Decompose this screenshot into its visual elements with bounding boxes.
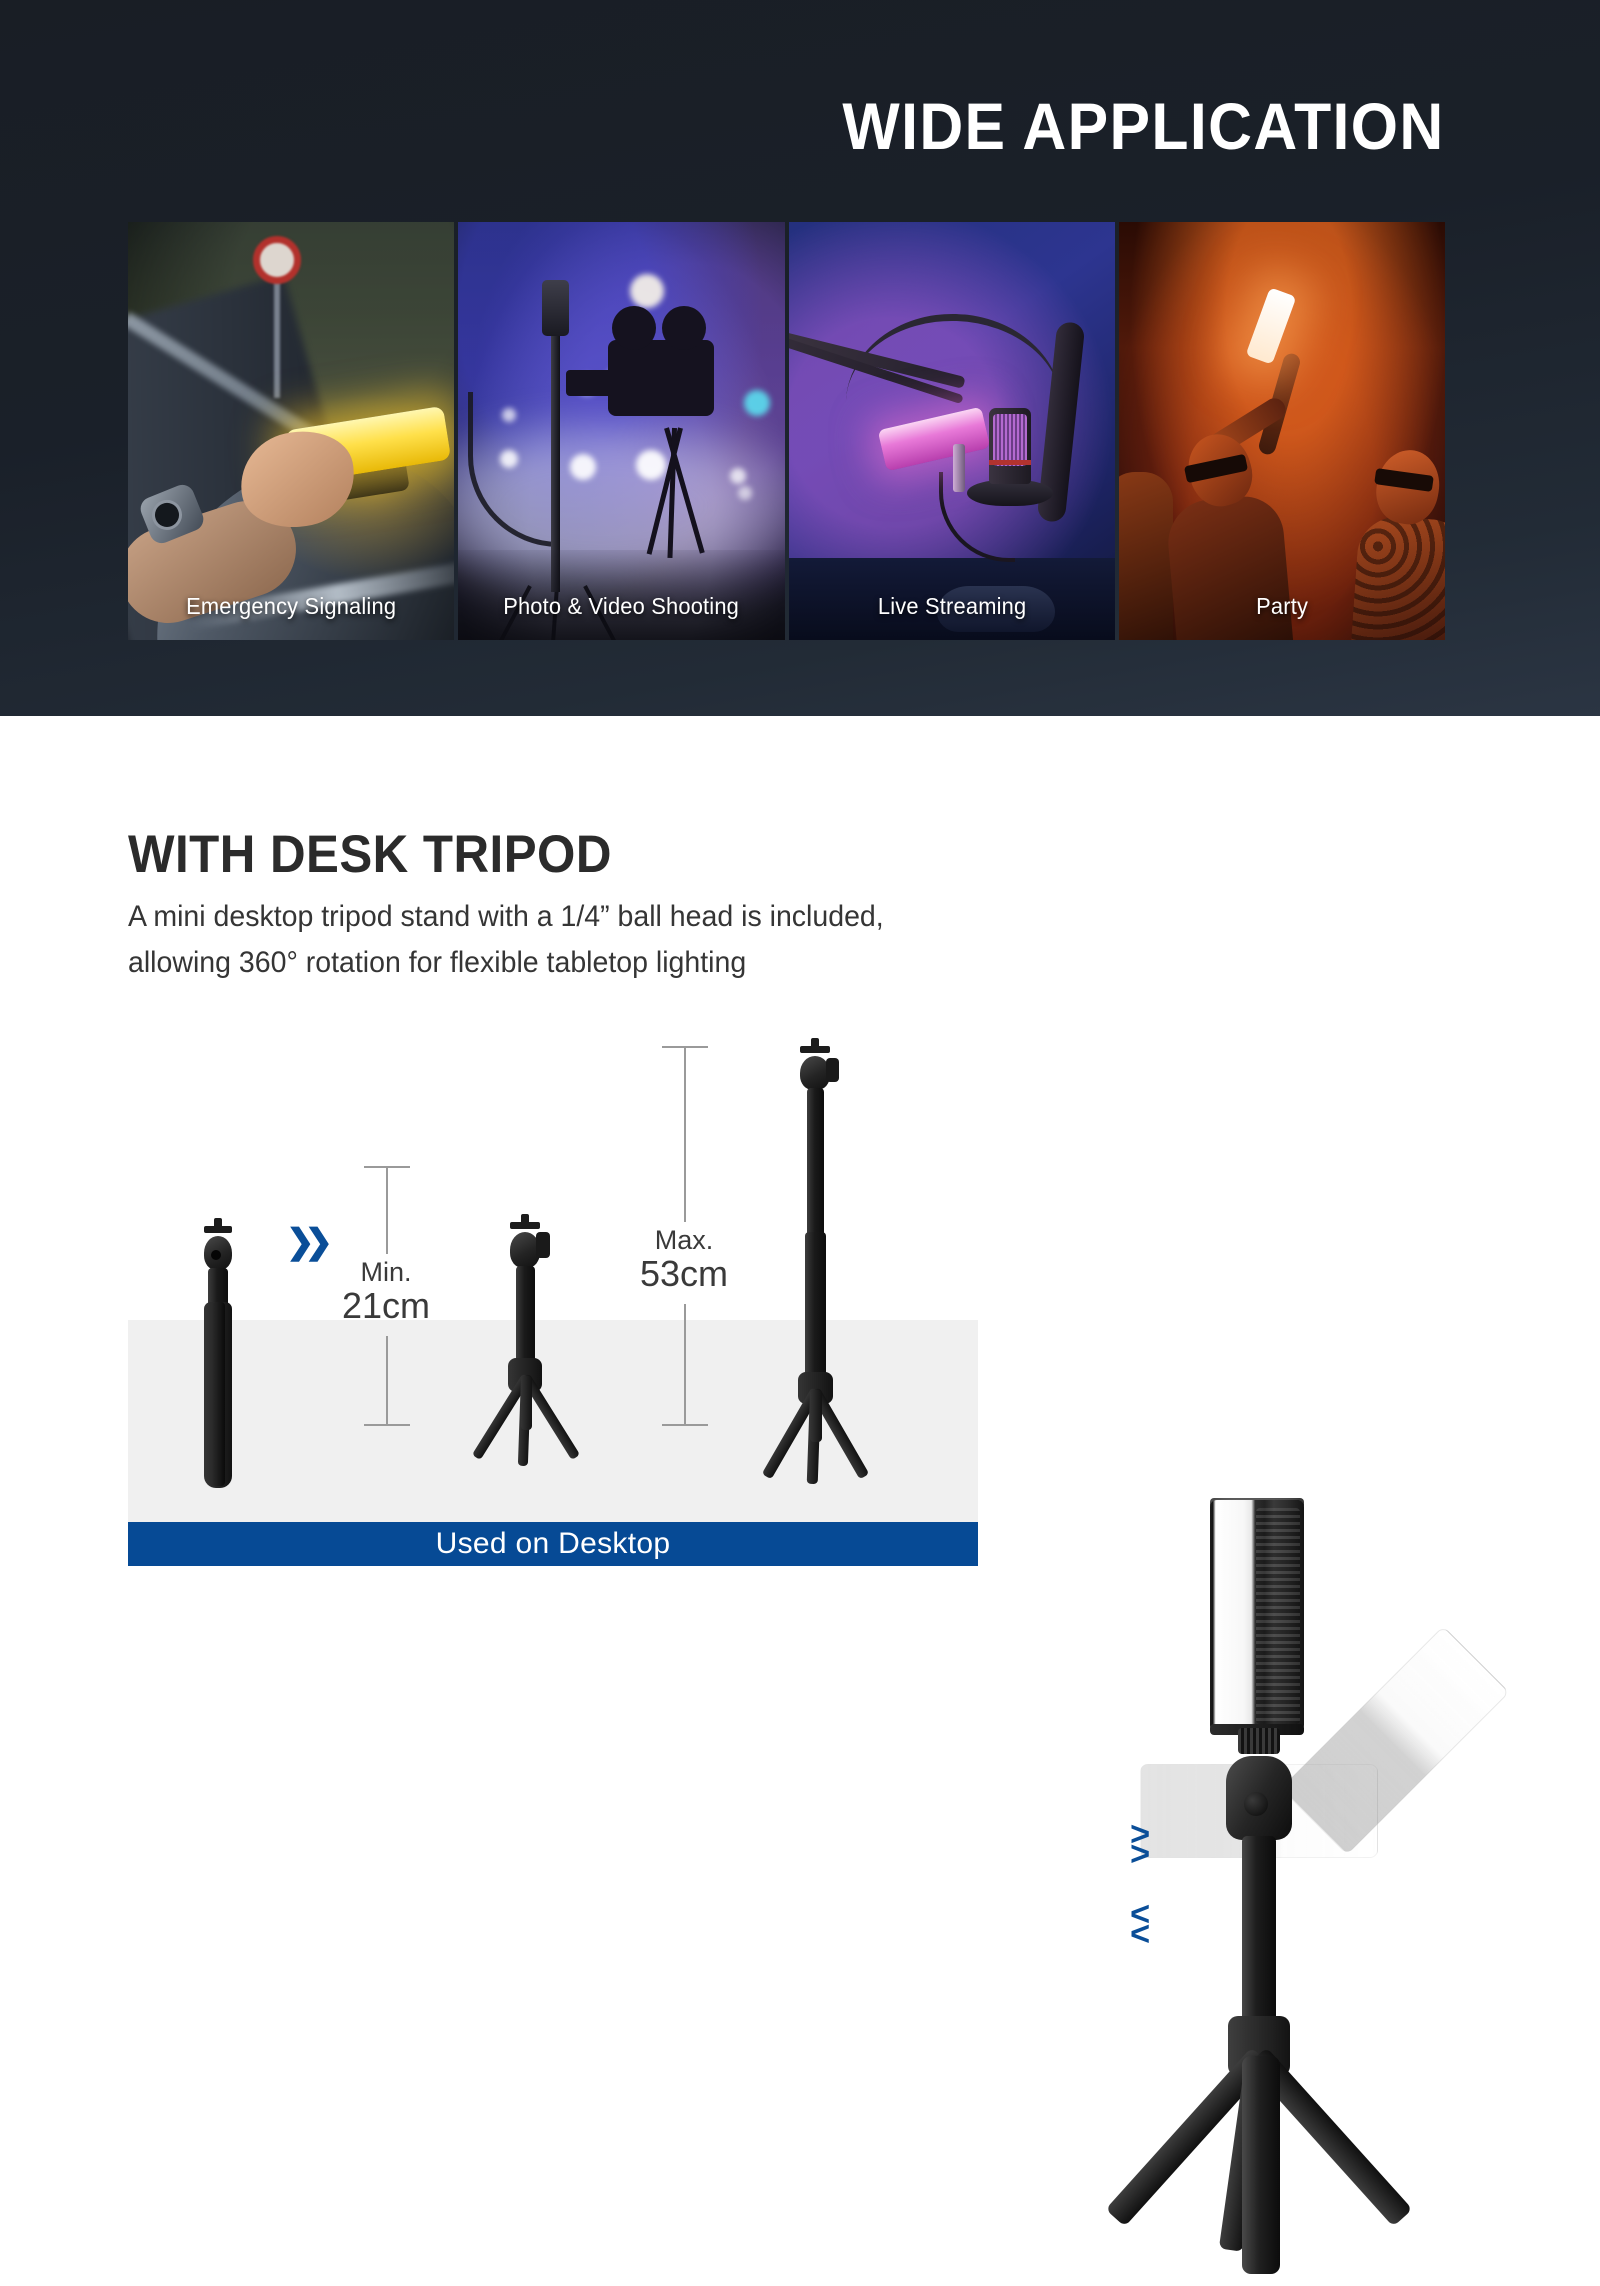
max-label: Max. 53cm	[634, 1226, 734, 1293]
ball-head-knob	[1244, 1792, 1268, 1816]
photo-caption: Party	[1127, 593, 1437, 620]
max-dim-cap-bottom	[662, 1424, 708, 1426]
hero-product-tripod-with-light: ˄˄ ˅˅	[1020, 1456, 1600, 2286]
expand-arrow-icon: ❯❯	[286, 1222, 323, 1262]
page-title: WIDE APPLICATION	[843, 88, 1445, 164]
speed-limit-sign-icon	[253, 236, 301, 284]
max-prefix: Max.	[634, 1226, 734, 1255]
photo-card-party: Party	[1119, 222, 1445, 640]
with-desk-tripod-section: WITH DESK TRIPOD A mini desktop tripod s…	[0, 716, 1600, 1600]
section-heading: WITH DESK TRIPOD	[128, 824, 612, 885]
min-value: 21cm	[336, 1287, 436, 1326]
chevron-up-icon: ˄˄	[1128, 1824, 1150, 1864]
description-line-2: allowing 360° rotation for flexible tabl…	[128, 940, 917, 986]
tripod-size-diagram: ❯❯ Min. 21cm Max. 53cm	[128, 1046, 978, 1566]
live-streaming-scene	[789, 222, 1115, 640]
max-dim-line	[684, 1046, 686, 1222]
section-description: A mini desktop tripod stand with a 1/4” …	[128, 894, 917, 986]
photo-card-emergency-signaling: Emergency Signaling	[128, 222, 454, 640]
wide-application-section: WIDE APPLICATION Emergency Signaling	[0, 0, 1600, 716]
min-prefix: Min.	[336, 1258, 436, 1287]
party-scene	[1119, 222, 1445, 640]
used-on-desktop-banner: Used on Desktop	[128, 1522, 978, 1566]
min-dim-line-lower	[386, 1336, 388, 1426]
photo-card-live-streaming: Live Streaming	[789, 222, 1115, 640]
emergency-signaling-scene	[128, 222, 454, 640]
chevron-down-icon: ˅˅	[1128, 1904, 1150, 1944]
rotation-ghost-45deg	[1281, 1626, 1510, 1855]
max-value: 53cm	[634, 1255, 734, 1294]
min-label: Min. 21cm	[336, 1258, 436, 1325]
photo-video-shooting-scene	[458, 222, 784, 640]
photo-caption: Live Streaming	[797, 593, 1107, 620]
vintage-movie-camera-silhouette	[608, 340, 714, 416]
tripod-center-leg	[1242, 2056, 1280, 2274]
light-wand-on-stand	[542, 280, 569, 336]
photo-caption: Photo & Video Shooting	[466, 593, 776, 620]
description-line-1: A mini desktop tripod stand with a 1/4” …	[128, 894, 917, 940]
min-dim-cap-bottom	[364, 1424, 410, 1426]
tilt-joint	[1238, 1728, 1280, 1754]
photo-caption: Emergency Signaling	[136, 593, 446, 620]
max-dim-line-lower	[684, 1304, 686, 1426]
min-dim-line	[386, 1166, 388, 1254]
photo-card-photo-video-shooting: Photo & Video Shooting	[458, 222, 784, 640]
application-photo-row: Emergency Signaling	[128, 222, 1445, 640]
